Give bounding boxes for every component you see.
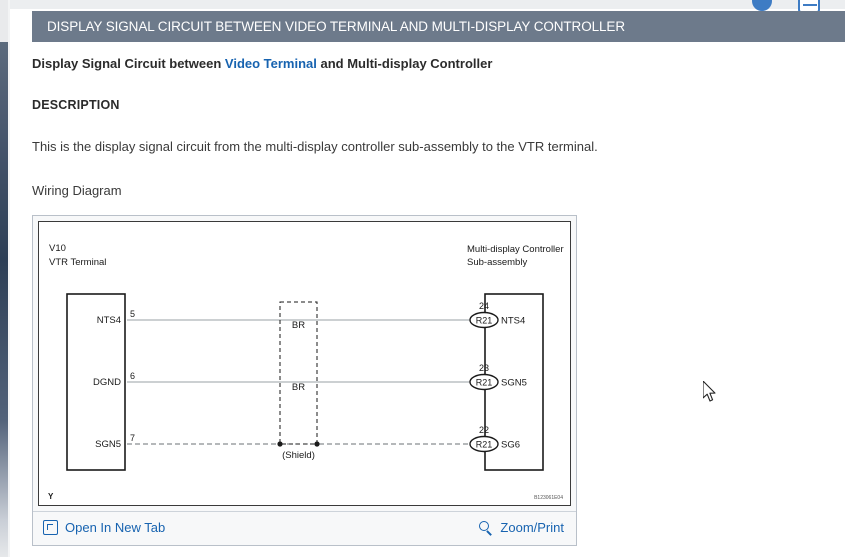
wire-color-marker: Y [48, 492, 54, 501]
connector-code-24: R21 [476, 316, 493, 326]
description-body: This is the display signal circuit from … [32, 139, 732, 155]
wiring-diagram-frame[interactable]: V10 VTR Terminal Multi-display Controlle… [38, 221, 571, 506]
new-tab-icon [43, 520, 58, 535]
page-title: DISPLAY SIGNAL CIRCUIT BETWEEN VIDEO TER… [32, 19, 625, 34]
video-terminal-link[interactable]: Video Terminal [225, 56, 317, 71]
open-in-new-tab-button[interactable]: Open In New Tab [43, 520, 165, 535]
diagram-footer-bar: Open In New Tab Zoom/Print [33, 511, 576, 545]
connector-code-22: R21 [476, 440, 493, 450]
right-pin-number-2: 22 [479, 425, 489, 435]
subtitle-prefix: Display Signal Circuit between [32, 56, 225, 71]
right-pin-number-1: 23 [479, 363, 489, 373]
shield-junction-dot-left [277, 441, 282, 446]
left-pin-number-1: 6 [130, 371, 135, 381]
page-header-bar: DISPLAY SIGNAL CIRCUIT BETWEEN VIDEO TER… [32, 11, 845, 42]
mouse-cursor [703, 381, 719, 405]
right-component-name-line1: Multi-display Controller [467, 244, 564, 255]
left-sidebar-rail[interactable] [0, 0, 8, 557]
wiring-diagram-card: V10 VTR Terminal Multi-display Controlle… [32, 215, 577, 546]
connector-code-23: R21 [476, 378, 493, 388]
left-component-name: VTR Terminal [49, 257, 106, 268]
shield-caption: (Shield) [282, 450, 315, 461]
zoom-print-label: Zoom/Print [500, 520, 564, 535]
right-pin-label-0: NTS4 [501, 316, 525, 327]
magnifier-plus-icon [479, 521, 493, 535]
right-pin-label-2: SG6 [501, 440, 520, 451]
section-subtitle: Display Signal Circuit between Video Ter… [32, 56, 732, 72]
window-top-strip [10, 0, 845, 9]
figure-code: B123061E04 [534, 495, 563, 501]
shield-junction-dot-right [314, 441, 319, 446]
left-pin-label-1: DGND [93, 377, 121, 388]
right-pin-label-1: SGN5 [501, 378, 527, 389]
left-pin-label-0: NTS4 [97, 315, 121, 326]
left-pin-number-0: 5 [130, 309, 135, 319]
shield-wire-label-0: BR [292, 320, 305, 331]
wiring-diagram-label: Wiring Diagram [32, 183, 732, 198]
description-heading: DESCRIPTION [32, 98, 732, 112]
right-component-name-line2: Sub-assembly [467, 257, 527, 268]
zoom-print-button[interactable]: Zoom/Print [479, 520, 564, 535]
open-in-new-tab-label: Open In New Tab [65, 520, 165, 535]
shield-wire-label-1: BR [292, 382, 305, 393]
sidebar-edge [8, 0, 10, 557]
right-pin-number-0: 24 [479, 301, 489, 311]
subtitle-suffix: and Multi-display Controller [317, 56, 493, 71]
left-component-code: V10 [49, 243, 66, 254]
user-avatar-icon[interactable] [752, 0, 772, 11]
left-pin-number-2: 7 [130, 433, 135, 443]
left-pin-label-2: SGN5 [95, 439, 121, 450]
content-area: Display Signal Circuit between Video Ter… [32, 56, 732, 206]
